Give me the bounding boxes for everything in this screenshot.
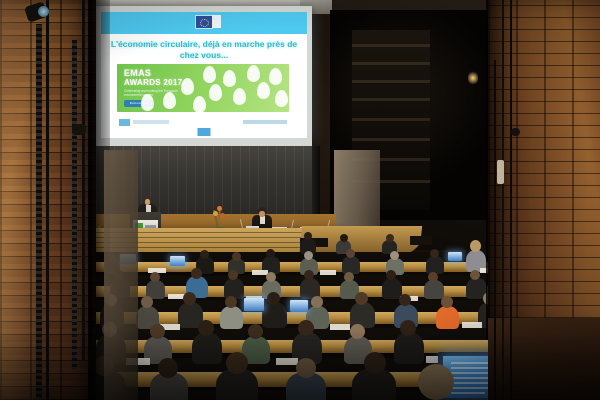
lighting-rail: [46, 0, 49, 400]
desk-paper: [330, 324, 350, 330]
audience-head: [226, 352, 248, 374]
laptop-screen: [244, 298, 264, 311]
audience-head: [390, 251, 399, 260]
audience-head: [346, 249, 355, 258]
slide-header-page-icon: [212, 15, 221, 28]
audience-head: [400, 320, 416, 336]
map-pin-icon: [269, 68, 282, 85]
audience-member: [262, 302, 287, 328]
audience-head: [267, 292, 280, 305]
audience-head: [470, 270, 480, 280]
audience-head: [386, 270, 396, 280]
audience-head: [228, 270, 238, 280]
audience-head: [198, 320, 214, 336]
audience-head: [418, 364, 454, 400]
slide-title: L'économie circulaire, déjà en marche pr…: [109, 39, 299, 61]
audience-head: [311, 296, 323, 308]
desk-paper: [276, 358, 298, 365]
audience-head: [266, 272, 276, 282]
audience-head: [428, 272, 438, 282]
right-brick-column: [488, 0, 600, 330]
presentation-slide: L'économie circulaire, déjà en marche pr…: [101, 12, 307, 138]
audience-head: [344, 272, 354, 282]
left-brick-highlight: [0, 0, 52, 400]
audience-head: [158, 358, 178, 378]
warm-spotlight-glow: [468, 70, 478, 86]
wall-cable: [510, 0, 512, 400]
audience-head: [200, 250, 209, 259]
stone-pillar: [104, 150, 138, 400]
wall-cable: [502, 0, 504, 400]
audience-head: [191, 268, 202, 279]
map-pin-icon: [203, 66, 216, 83]
audience-member: [342, 256, 360, 274]
audience-member: [426, 256, 444, 274]
auditorium-photo-scene: L'économie circulaire, déjà en marche pr…: [0, 0, 600, 400]
moderator-face: [259, 211, 265, 217]
audience-head: [399, 294, 411, 306]
laptop-screen: [448, 252, 462, 261]
audience-head: [350, 324, 365, 339]
audience-head: [470, 240, 481, 252]
audience-head: [225, 296, 237, 308]
slide-footer-right-text: [243, 120, 287, 124]
map-pin-icon: [275, 90, 288, 107]
banner-title-line2: AWARDS 2017: [124, 78, 182, 88]
audience-head: [430, 249, 439, 258]
map-pin-icon: [209, 84, 222, 101]
laptop-screen: [290, 300, 308, 312]
desk-paper: [320, 270, 336, 275]
map-pin-icon: [193, 96, 206, 112]
audience-head: [296, 358, 316, 378]
audience-member: [220, 306, 243, 329]
map-pin-icon: [223, 70, 236, 87]
map-pin-icon: [141, 94, 154, 111]
audience-head: [298, 320, 314, 336]
map-pin-icon: [163, 92, 176, 109]
audience-head: [150, 272, 160, 282]
map-pin-icon: [233, 88, 246, 105]
wall-junction-box: [511, 128, 520, 136]
moderator-shirt: [260, 216, 265, 224]
audience-head: [304, 232, 312, 240]
audience-member: [394, 332, 424, 364]
slide-footer-left-text: [133, 120, 169, 124]
audience-head: [304, 270, 314, 280]
speaker-face: [145, 199, 150, 205]
map-pin-icon: [181, 78, 194, 95]
slide-footer-eu-logo: [119, 119, 130, 126]
desk-paper: [462, 322, 482, 328]
audience-member: [424, 280, 444, 299]
lighting-rail: [36, 24, 42, 400]
map-pin-icon: [247, 65, 260, 82]
lighting-rail: [72, 40, 77, 370]
spotlight-fixture: [72, 124, 86, 135]
audience-head: [364, 352, 386, 374]
audience-head: [232, 252, 241, 261]
audience-head: [248, 324, 263, 339]
audience-head: [340, 234, 348, 242]
audience-head: [304, 251, 313, 260]
stage-vent-panel: [410, 236, 432, 245]
wall-light-tube: [497, 160, 504, 184]
audience-head: [141, 296, 153, 308]
audience-head: [386, 234, 394, 242]
audience-member: [436, 306, 459, 329]
audience-head: [441, 296, 453, 308]
spotlight-lens: [38, 6, 49, 17]
audience-head: [266, 249, 275, 258]
european-commission-flag-logo: [195, 15, 213, 29]
lighting-rail: [82, 0, 85, 360]
wall-cable: [494, 60, 496, 400]
laptop-screen: [170, 256, 185, 266]
audience-head: [150, 324, 165, 339]
right-wall-base: [488, 318, 600, 400]
projection-screen: L'économie circulaire, déjà en marche pr…: [96, 6, 312, 146]
emas-awards-banner: EMAS AWARDS 2017 Celebrating and making …: [117, 64, 289, 112]
slide-bottom-marker: [198, 128, 211, 136]
map-pin-icon: [257, 82, 270, 99]
audience-member: [192, 332, 222, 364]
audience-head: [355, 292, 368, 305]
audience-head: [183, 292, 196, 305]
